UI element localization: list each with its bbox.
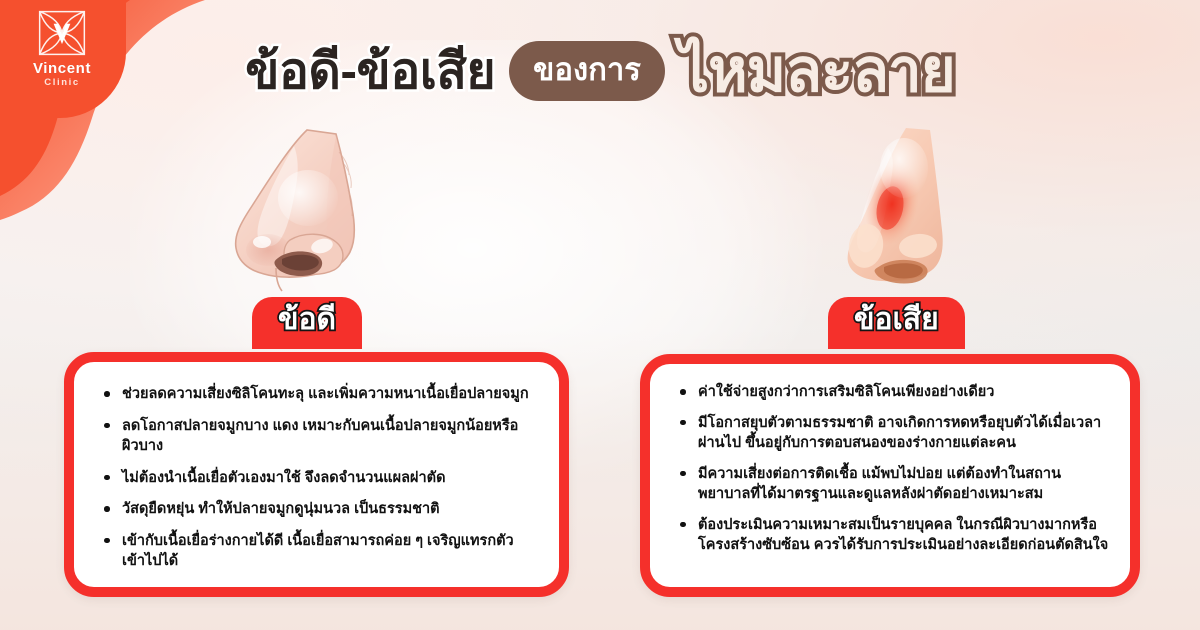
badge-cons-label: ข้อเสีย [854,305,939,335]
card-cons: ค่าใช้จ่ายสูงกว่าการเสริมซิลิโคนเพียงอย่… [640,354,1140,597]
badge-pros: ข้อดี [252,297,362,349]
list-item: ลดโอกาสปลายจมูกบาง แดง เหมาะกับคนเนื้อปล… [100,416,539,457]
list-item: ค่าใช้จ่ายสูงกว่าการเสริมซิลิโคนเพียงอย่… [676,382,1110,403]
badge-cons: ข้อเสีย [828,297,965,349]
list-item: เข้ากับเนื้อเยื่อร่างกายได้ดี เนื้อเยื่อ… [100,531,539,572]
title-part-pros-cons: ข้อดี-ข้อเสีย [245,46,495,96]
list-item: มีความเสี่ยงต่อการติดเชื้อ แม้พบไม่บ่อย … [676,464,1110,505]
list-item: ช่วยลดความเสี่ยงซิลิโคนทะลุ และเพิ่มความ… [100,384,539,405]
infographic-canvas: Vincent Clinic ข้อดี-ข้อเสีย ของการ ไหมล… [0,0,1200,630]
pros-list: ช่วยลดความเสี่ยงซิลิโคนทะลุ และเพิ่มความ… [74,362,559,590]
list-item: มีโอกาสยุบตัวตามธรรมชาติ อาจเกิดการหดหรื… [676,413,1110,454]
cons-list: ค่าใช้จ่ายสูงกว่าการเสริมซิลิโคนเพียงอย่… [650,364,1130,574]
list-item: ต้องประเมินความเหมาะสมเป็นรายบุคคล ในกรณ… [676,515,1110,556]
title-part-topic: ไหมละลาย [679,41,955,101]
badge-pros-label: ข้อดี [278,305,336,335]
list-item: ไม่ต้องนำเนื้อเยื่อตัวเองมาใช้ จึงลดจำนว… [100,468,539,489]
page-title: ข้อดี-ข้อเสีย ของการ ไหมละลาย [0,34,1200,108]
card-pros: ช่วยลดความเสี่ยงซิลิโคนทะลุ และเพิ่มความ… [64,352,569,597]
list-item: วัสดุยืดหยุ่น ทำให้ปลายจมูกดูนุ่มนวล เป็… [100,499,539,520]
title-pill-label: ของการ [509,41,665,101]
